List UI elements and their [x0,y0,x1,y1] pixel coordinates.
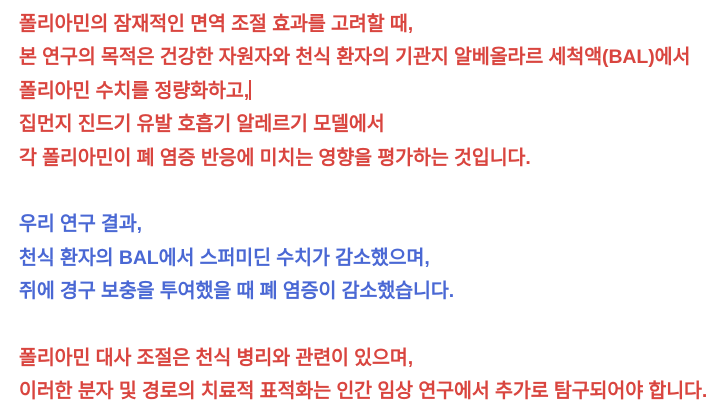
text-line: 천식 환자의 BAL에서 스퍼미딘 수치가 감소했으며, [19,242,723,275]
text-document[interactable]: 폴리아민의 잠재적인 면역 조절 효과를 고려할 때, 본 연구의 목적은 건강… [0,0,723,409]
text-cursor-icon [249,80,251,100]
text-line: 각 폴리아민이 폐 염증 반응에 미치는 영향을 평가하는 것입니다. [19,142,723,175]
blank-line [19,175,723,208]
paragraph-results: 우리 연구 결과, 천식 환자의 BAL에서 스퍼미딘 수치가 감소했으며, 쥐… [19,208,723,308]
text-line: 폴리아민의 잠재적인 면역 조절 효과를 고려할 때, [19,8,723,41]
paragraph-conclusion: 폴리아민 대사 조절은 천식 병리와 관련이 있으며, 이러한 분자 및 경로의… [19,342,723,409]
text-line-with-cursor: 폴리아민 수치를 정량화하고, [19,75,723,108]
text-line: 본 연구의 목적은 건강한 자원자와 천식 환자의 기관지 알베올라르 세척액(… [19,41,723,74]
text-line: 쥐에 경구 보충을 투여했을 때 폐 염증이 감소했습니다. [19,275,723,308]
text-line: 집먼지 진드기 유발 호흡기 알레르기 모델에서 [19,108,723,141]
text-line: 이러한 분자 및 경로의 치료적 표적화는 인간 임상 연구에서 추가로 탐구되… [19,375,723,408]
text-line-content: 폴리아민 수치를 정량화하고, [19,80,249,102]
text-line: 우리 연구 결과, [19,208,723,241]
paragraph-objective: 폴리아민의 잠재적인 면역 조절 효과를 고려할 때, 본 연구의 목적은 건강… [19,8,723,175]
blank-line [19,309,723,342]
text-line: 폴리아민 대사 조절은 천식 병리와 관련이 있으며, [19,342,723,375]
